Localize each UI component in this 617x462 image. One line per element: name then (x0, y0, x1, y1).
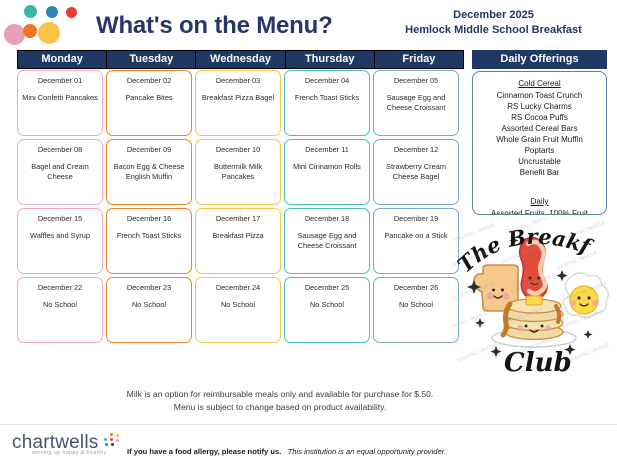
menu-day-date: December 12 (374, 145, 458, 155)
menu-day-item: Sausage Egg and Cheese Croissant (374, 93, 458, 113)
page-header: What's on the Menu? December 2025 Hemloc… (0, 0, 617, 48)
menu-day-date: December 01 (18, 76, 102, 86)
menu-day-cell[interactable]: December 19 Pancake on a Stick (373, 208, 459, 274)
daily-heading: Daily (473, 196, 606, 207)
chartwells-logo-dots-icon (104, 433, 124, 449)
menu-day-item: Strawberry Cream Cheese Bagel (374, 162, 458, 182)
logo-dot-teal (24, 5, 37, 18)
chartwells-tagline: serving up happy & healthy (32, 450, 107, 456)
menu-day-cell[interactable]: December 18 Sausage Egg and Cheese Crois… (284, 208, 370, 274)
offering-item: Poptarts (473, 145, 606, 156)
menu-day-item: Mini Cinnamon Rolls (285, 162, 369, 172)
menu-day-item: No School (374, 300, 458, 310)
menu-day-item: No School (18, 300, 102, 310)
menu-day-item: Waffles and Syrup (18, 231, 102, 241)
calendar-week-row: December 22 No School December 23 No Sch… (17, 277, 464, 345)
weekday-header-thursday: Thursday (286, 51, 375, 68)
menu-day-cell[interactable]: December 05 Sausage Egg and Cheese Crois… (373, 70, 459, 136)
offerings-spacer (473, 178, 606, 196)
weekday-header-wednesday: Wednesday (196, 51, 285, 68)
breakfast-club-illustration-icon: The Breakfast Club (452, 218, 614, 378)
menu-day-date: December 17 (196, 214, 280, 224)
offering-item: Assorted Fruits, 100% Fruit (473, 208, 606, 215)
daily-offerings-panel: Cold Cereal Cinnamon Toast Crunch RS Luc… (472, 71, 607, 215)
chartwells-logo: chartwells serving up happy & healthy (12, 432, 122, 458)
menu-day-item: French Toast Sticks (107, 231, 191, 241)
menu-day-date: December 26 (374, 283, 458, 293)
menu-day-date: December 22 (18, 283, 102, 293)
menu-day-item: Sausage Egg and Cheese Croissant (285, 231, 369, 251)
menu-day-date: December 25 (285, 283, 369, 293)
breakfast-club-line2: Club (504, 348, 572, 378)
equal-opportunity-notice: This institution is an equal opportunity… (288, 447, 446, 456)
menu-day-date: December 03 (196, 76, 280, 86)
offering-item: Uncrustable (473, 156, 606, 167)
menu-calendar-grid: December 01 Mini Confetti Pancakes Decem… (17, 70, 464, 346)
allergy-notice: If you have a food allergy, please notif… (127, 446, 446, 457)
menu-day-cell[interactable]: December 11 Mini Cinnamon Rolls (284, 139, 370, 205)
menu-day-cell[interactable]: December 22 No School (17, 277, 103, 343)
footer-divider (0, 424, 617, 425)
menu-day-item: Buttermilk Milk Pancakes (196, 162, 280, 182)
menu-day-cell[interactable]: December 09 Bacon Egg & Cheese English M… (106, 139, 192, 205)
menu-day-item: Bacon Egg & Cheese English Muffin (107, 162, 191, 182)
weekday-header-monday: Monday (18, 51, 107, 68)
menu-day-cell[interactable]: December 17 Breakfast Pizza (195, 208, 281, 274)
offering-item: RS Cocoa Puffs (473, 112, 606, 123)
menu-day-cell[interactable]: December 23 No School (106, 277, 192, 343)
menu-day-cell[interactable]: December 12 Strawberry Cream Cheese Bage… (373, 139, 459, 205)
menu-day-cell[interactable]: December 25 No School (284, 277, 370, 343)
menu-day-item: French Toast Sticks (285, 93, 369, 103)
menu-day-cell[interactable]: December 15 Waffles and Syrup (17, 208, 103, 274)
menu-day-cell[interactable]: December 03 Breakfast Pizza Bagel (195, 70, 281, 136)
menu-day-item: Breakfast Pizza Bagel (196, 93, 280, 103)
calendar-week-row: December 08 Bagel and Cream Cheese Decem… (17, 139, 464, 207)
menu-day-date: December 24 (196, 283, 280, 293)
daily-offerings-header: Daily Offerings (472, 50, 607, 69)
header-subtitle-block: December 2025 Hemlock Middle School Brea… (372, 8, 615, 38)
menu-day-cell[interactable]: December 16 French Toast Sticks (106, 208, 192, 274)
menu-day-date: December 16 (107, 214, 191, 224)
menu-day-date: December 19 (374, 214, 458, 224)
menu-school-meal: Hemlock Middle School Breakfast (372, 23, 615, 38)
menu-month-year: December 2025 (372, 8, 615, 23)
menu-day-date: December 23 (107, 283, 191, 293)
breakfast-club-graphic: The Breakfast Club DIGITAL IMAGE DIGITAL… (452, 218, 614, 378)
calendar-week-row: December 01 Mini Confetti Pancakes Decem… (17, 70, 464, 138)
logo-dot-red (66, 7, 77, 18)
menu-day-date: December 15 (18, 214, 102, 224)
menu-day-date: December 08 (18, 145, 102, 155)
menu-day-cell[interactable]: December 08 Bagel and Cream Cheese (17, 139, 103, 205)
offering-item: Assorted Cereal Bars (473, 123, 606, 134)
calendar-week-row: December 15 Waffles and Syrup December 1… (17, 208, 464, 276)
menu-day-date: December 04 (285, 76, 369, 86)
milk-note: Milk is an option for reimbursable meals… (60, 388, 500, 401)
weekday-header-friday: Friday (375, 51, 463, 68)
menu-day-date: December 18 (285, 214, 369, 224)
menu-day-item: No School (196, 300, 280, 310)
menu-day-cell[interactable]: December 10 Buttermilk Milk Pancakes (195, 139, 281, 205)
logo-dot-pink (4, 24, 25, 45)
menu-day-cell[interactable]: December 04 French Toast Sticks (284, 70, 370, 136)
menu-day-item: Pancake Bites (107, 93, 191, 103)
menu-day-cell[interactable]: December 26 No School (373, 277, 459, 343)
menu-notes: Milk is an option for reimbursable meals… (60, 388, 500, 414)
offering-item: Benefit Bar (473, 167, 606, 178)
chartwells-dots-logo-icon (2, 2, 64, 46)
menu-day-date: December 10 (196, 145, 280, 155)
menu-day-item: Pancake on a Stick (374, 231, 458, 241)
menu-day-item: Bagel and Cream Cheese (18, 162, 102, 182)
menu-day-item: Breakfast Pizza (196, 231, 280, 241)
page-title: What's on the Menu? (96, 12, 376, 40)
menu-day-cell[interactable]: December 02 Pancake Bites (106, 70, 192, 136)
menu-day-date: December 09 (107, 145, 191, 155)
logo-dot-yellow (38, 22, 60, 44)
weekday-header-row: Monday Tuesday Wednesday Thursday Friday (17, 50, 464, 69)
menu-day-item: No School (107, 300, 191, 310)
cold-cereal-heading: Cold Cereal (473, 78, 606, 89)
weekday-header-tuesday: Tuesday (107, 51, 196, 68)
allergy-notice-bold: If you have a food allergy, please notif… (127, 447, 281, 456)
menu-change-note: Menu is subject to change based on produ… (60, 401, 500, 414)
menu-day-date: December 05 (374, 76, 458, 86)
offering-item: Whole Grain Fruit Muffin (473, 134, 606, 145)
logo-dot-blue (46, 6, 58, 18)
menu-day-date: December 02 (107, 76, 191, 86)
menu-day-cell[interactable]: December 24 No School (195, 277, 281, 343)
offering-item: Cinnamon Toast Crunch (473, 90, 606, 101)
offering-item: RS Lucky Charms (473, 101, 606, 112)
logo-dot-orange (23, 24, 37, 38)
menu-day-item: No School (285, 300, 369, 310)
menu-day-date: December 11 (285, 145, 369, 155)
menu-day-cell[interactable]: December 01 Mini Confetti Pancakes (17, 70, 103, 136)
menu-day-item: Mini Confetti Pancakes (18, 93, 102, 103)
